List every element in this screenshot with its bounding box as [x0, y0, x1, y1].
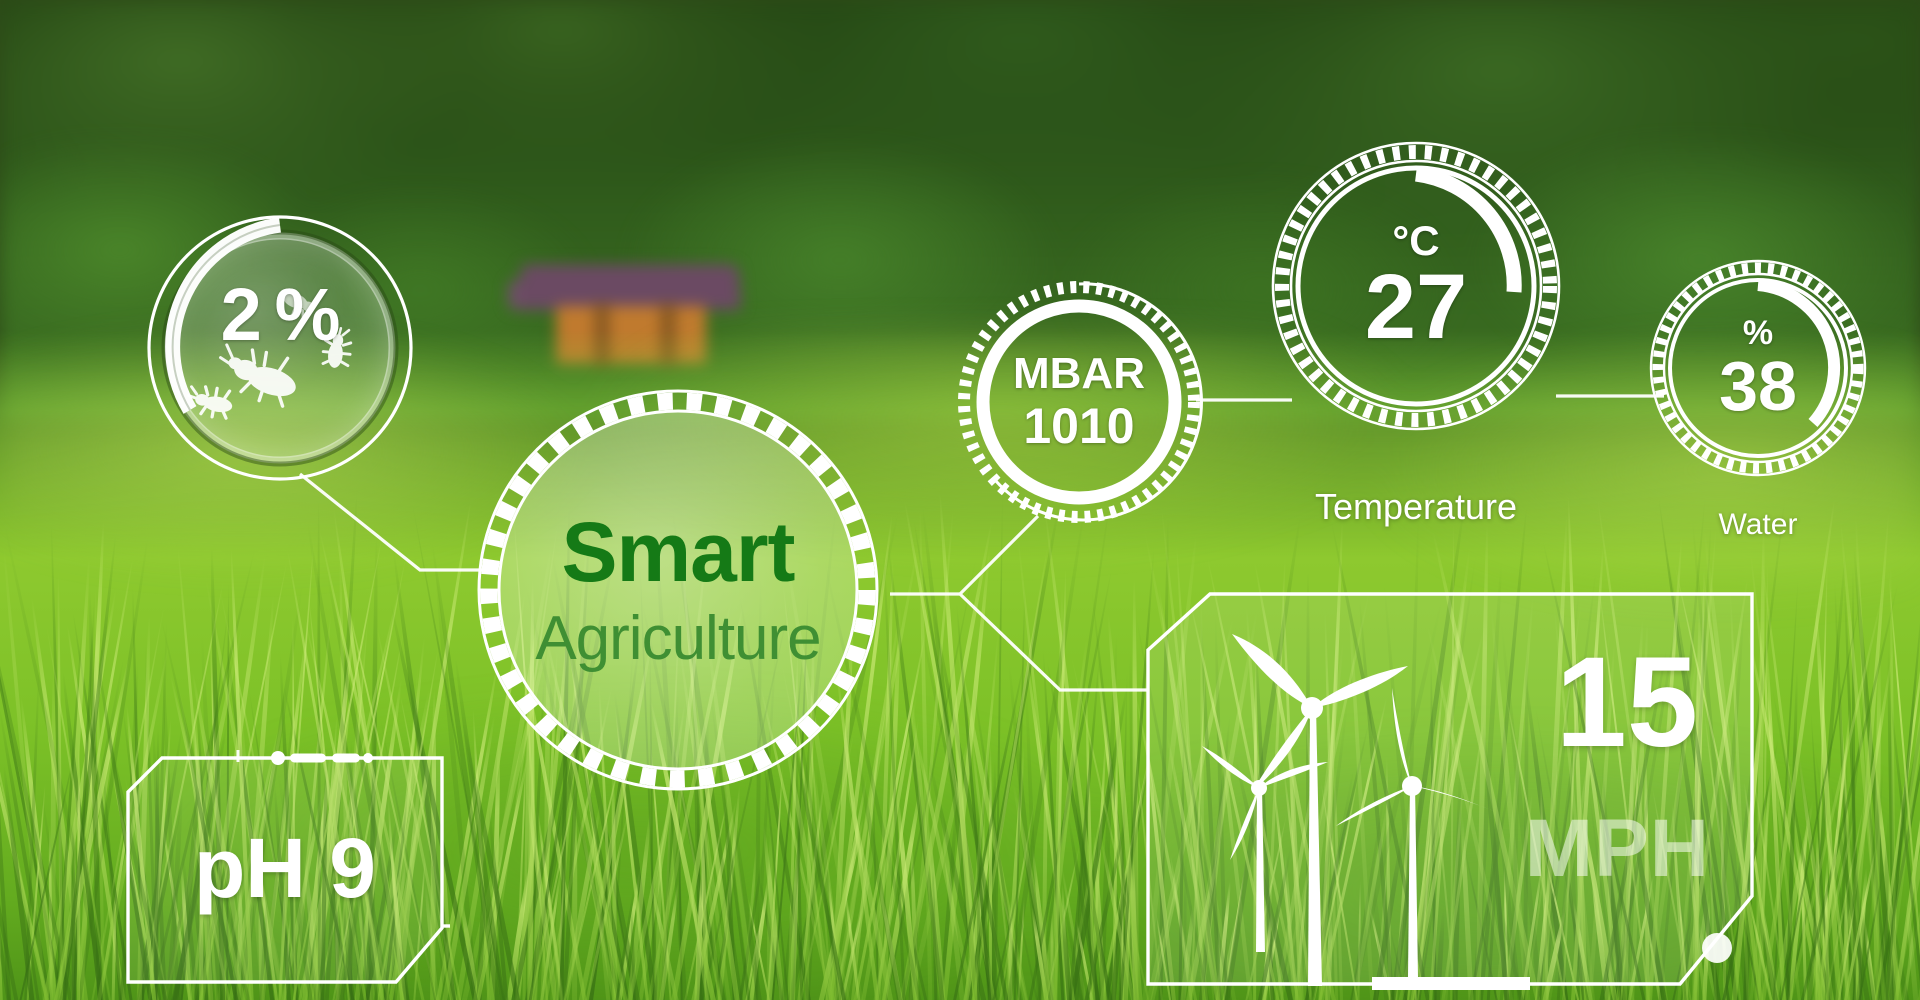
- pest-gauge-readout: 2 %: [146, 214, 414, 482]
- temperature-readout: °C 27: [1270, 140, 1562, 432]
- pest-gauge[interactable]: 2 %: [146, 214, 414, 482]
- hub-text: Smart Agriculture: [466, 378, 890, 802]
- water-value: 38: [1719, 352, 1797, 421]
- water-gauge[interactable]: % 38: [1648, 258, 1868, 478]
- temperature-label: Temperature: [1270, 486, 1562, 528]
- temperature-gauge[interactable]: °C 27: [1270, 140, 1562, 432]
- smart-agriculture-hub[interactable]: Smart Agriculture: [466, 378, 890, 802]
- pressure-gauge[interactable]: MBAR 1010: [955, 278, 1203, 526]
- pressure-value: 1010: [1023, 400, 1134, 453]
- pressure-unit: MBAR: [1013, 352, 1145, 396]
- wind-panel[interactable]: 15 MPH: [1140, 586, 1760, 992]
- water-label: Water: [1648, 508, 1868, 542]
- water-unit: %: [1743, 316, 1773, 350]
- pest-value: 2 %: [146, 272, 414, 357]
- wind-value: 15: [1556, 644, 1698, 762]
- hub-title-line1: Smart: [561, 510, 794, 594]
- ph-value: pH 9: [120, 820, 450, 917]
- wind-unit: MPH: [1525, 808, 1710, 890]
- ph-panel[interactable]: pH 9: [120, 750, 450, 990]
- hub-title-line2: Agriculture: [535, 608, 820, 670]
- hud-overlay: 2 % MBAR 1010 °C 27 Temperature: [0, 0, 1920, 1000]
- temperature-value: 27: [1365, 264, 1467, 351]
- pressure-readout: MBAR 1010: [955, 278, 1203, 526]
- water-readout: % 38: [1648, 258, 1868, 478]
